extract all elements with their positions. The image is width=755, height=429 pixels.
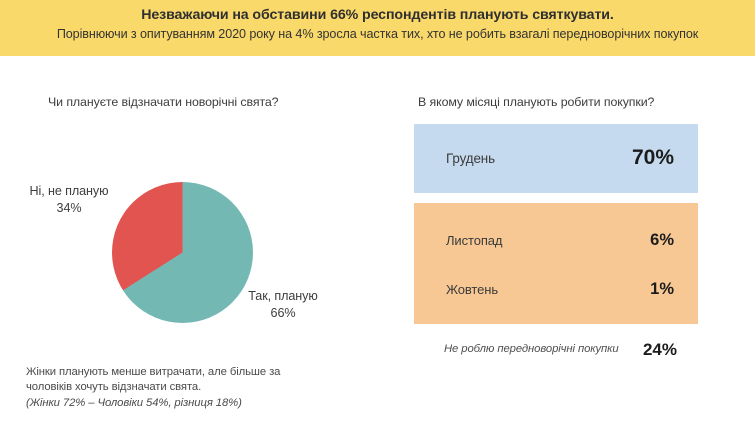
bar-december: Грудень 70% — [414, 124, 698, 193]
bar-value-november: 6% — [650, 231, 698, 250]
pie-slice-value-no: 34% — [14, 200, 124, 217]
pie-chart-panel: Чи плануєте відзначати новорічні свята? … — [0, 56, 385, 429]
pie-slice-label-no-text: Ні, не планую — [14, 183, 124, 200]
bar-label-november: Листопад — [414, 233, 650, 248]
bar-label-october: Жовтень — [414, 282, 650, 297]
pie-slice-label-yes: Так, планую 66% — [222, 288, 344, 323]
pie-slice-value-yes: 66% — [222, 305, 344, 322]
header-banner: Незважаючи на обставини 66% респондентів… — [0, 0, 755, 56]
pie-slice-label-yes-text: Так, планую — [222, 288, 344, 305]
bar-row-no-purchases: Не роблю передноворічні покупки 24% — [414, 340, 698, 374]
bar-value-december: 70% — [632, 146, 698, 170]
bar-chart-panel: В якому місяці планують робити покупки? … — [385, 56, 755, 429]
header-subtitle: Порівнюючи з опитуванням 2020 року на 4%… — [55, 26, 700, 42]
bar-label-december: Грудень — [414, 151, 632, 166]
pie-chart-question: Чи плануєте відзначати новорічні свята? — [48, 95, 278, 109]
bar-value-no-purchases: 24% — [643, 340, 698, 360]
bar-row-november: Листопад 6% — [414, 223, 698, 257]
footnote-line-1: Жінки планують менше витрачати, але біль… — [26, 365, 356, 380]
bar-row-december: Грудень 70% — [414, 141, 698, 175]
bar-chart-question: В якому місяці планують робити покупки? — [418, 95, 654, 109]
bar-row-october: Жовтень 1% — [414, 272, 698, 306]
bar-autumn-months: Листопад 6% Жовтень 1% — [414, 203, 698, 324]
pie-slice-label-no: Ні, не планую 34% — [14, 183, 124, 218]
bar-label-no-purchases: Не роблю передноворічні покупки — [414, 340, 643, 356]
bar-value-october: 1% — [650, 280, 698, 299]
footnote: Жінки планують менше витрачати, але біль… — [26, 365, 356, 411]
footnote-line-3: (Жінки 72% – Чоловіки 54%, різниця 18%) — [26, 396, 356, 411]
bar-no-purchases: Не роблю передноворічні покупки 24% — [414, 334, 698, 382]
header-title: Незважаючи на обставини 66% респондентів… — [55, 6, 700, 25]
footnote-line-2: чоловіків хочуть відзначати свята. — [26, 380, 356, 395]
